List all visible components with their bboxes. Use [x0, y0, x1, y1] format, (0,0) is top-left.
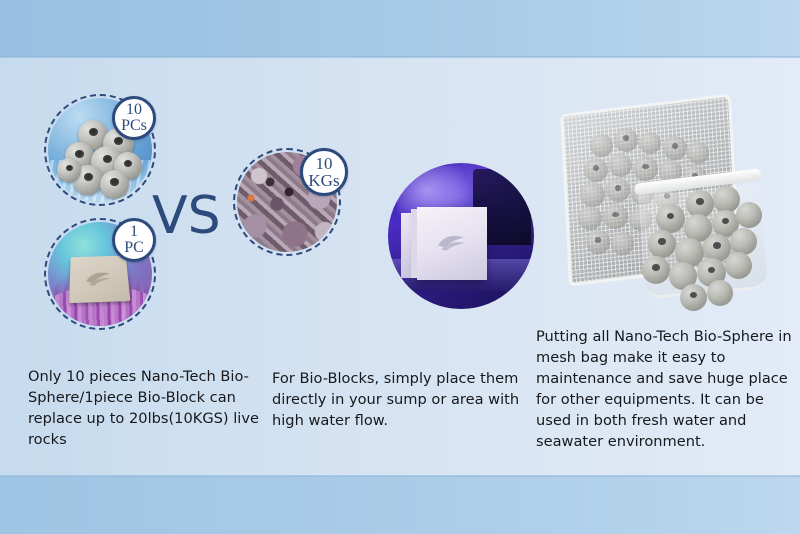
top-color-band [0, 0, 800, 57]
badge-number: 10 [126, 102, 142, 118]
vs-label: VS [152, 186, 221, 246]
badge-unit: PC [124, 240, 144, 256]
bottom-band-edge [0, 475, 800, 477]
wave-logo-icon [436, 231, 468, 253]
badge-number: 10 [316, 155, 333, 172]
caption-comparison: Only 10 pieces Nano-Tech Bio-Sphere/1pie… [28, 366, 268, 450]
bio-block-in-sump [417, 207, 487, 280]
mesh-bag-with-spheres-photo [556, 98, 771, 316]
bottom-color-band [0, 476, 800, 534]
badge-number: 1 [130, 224, 138, 240]
badge-1-pc: 1 PC [112, 218, 156, 262]
bio-block-tile [69, 255, 130, 303]
badge-10-pcs: 10 PCs [112, 96, 156, 140]
badge-10-kgs: 10 KGs [300, 148, 348, 196]
caption-mesh-bag: Putting all Nano-Tech Bio-Sphere in mesh… [536, 326, 792, 452]
caption-bio-blocks: For Bio-Blocks, simply place them direct… [272, 368, 526, 431]
top-band-edge [0, 56, 800, 58]
badge-unit: KGs [308, 172, 339, 189]
infographic-page: 10 PCs 1 PC VS 10 KGs [0, 0, 800, 534]
badge-unit: PCs [121, 118, 147, 134]
aquarium-sump-photo [388, 163, 534, 309]
wave-logo-icon [84, 268, 115, 288]
